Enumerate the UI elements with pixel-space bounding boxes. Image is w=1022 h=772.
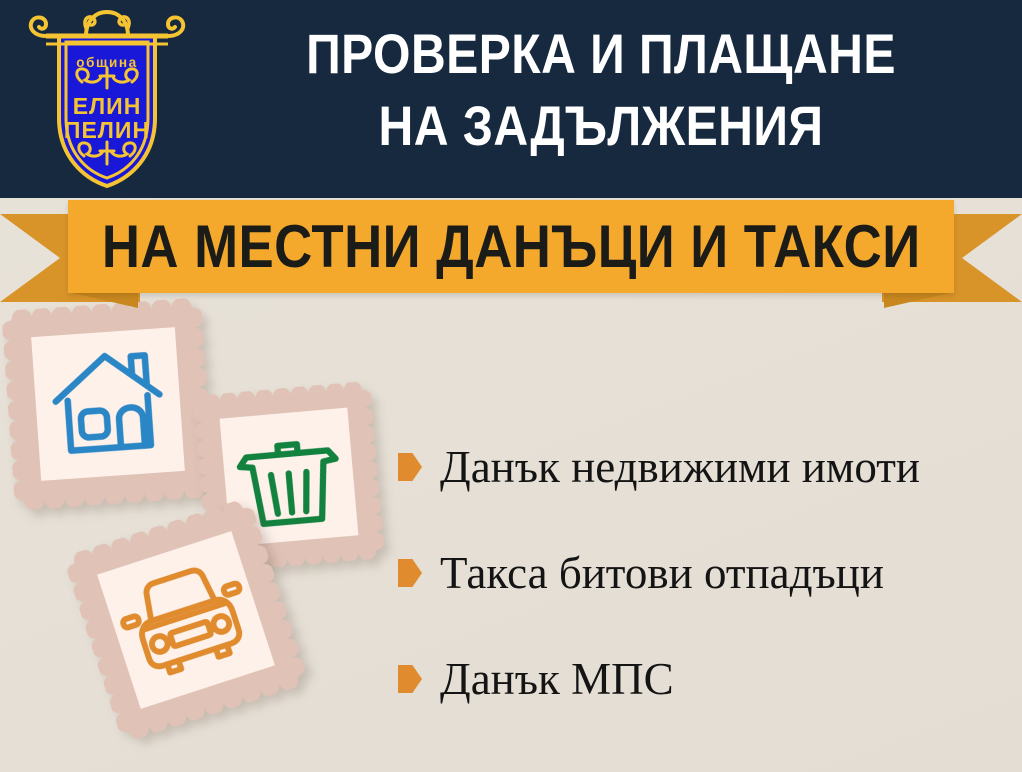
coat-of-arms-icon: община ЕЛИН ПЕЛИН [26,6,188,192]
tax-type-list: Данък недвижими имоти Такса битови отпад… [398,414,1018,732]
ribbon-label: НА МЕСТНИ ДАНЪЦИ И ТАКСИ [102,217,921,277]
list-item-label: Такса битови отпадъци [440,548,884,598]
header-band: община ЕЛИН ПЕЛИН [0,0,1022,198]
arrow-bullet-icon [398,559,422,587]
poster-root: община ЕЛИН ПЕЛИН [0,0,1022,772]
house-stamp-icon [1,297,214,510]
arrow-bullet-icon [398,665,422,693]
stamp-property-tax [1,297,214,510]
list-item-label: Данък недвижими имоти [440,442,920,492]
logo-word-elin: ЕЛИН [73,93,142,119]
municipality-logo: община ЕЛИН ПЕЛИН [26,6,188,192]
list-item[interactable]: Такса битови отпадъци [398,520,1018,626]
ribbon-body: НА МЕСТНИ ДАНЪЦИ И ТАКСИ [68,200,954,293]
subtitle-ribbon: НА МЕСТНИ ДАНЪЦИ И ТАКСИ [0,196,1022,308]
list-item[interactable]: Данък недвижими имоти [398,414,1018,520]
logo-word-pelin: ПЕЛИН [64,117,150,143]
list-item[interactable]: Данък МПС [398,626,1018,732]
stamp-collage [0,300,420,772]
list-item-label: Данък МПС [440,654,674,704]
page-title: ПРОВЕРКА И ПЛАЩАНЕ НА ЗАДЪЛЖЕНИЯ [196,18,1006,162]
title-line-2: НА ЗАДЪЛЖЕНИЯ [253,90,950,162]
arrow-bullet-icon [398,453,422,481]
header-inner: община ЕЛИН ПЕЛИН [0,0,1022,198]
title-line-1: ПРОВЕРКА И ПЛАЩАНЕ [253,18,950,90]
